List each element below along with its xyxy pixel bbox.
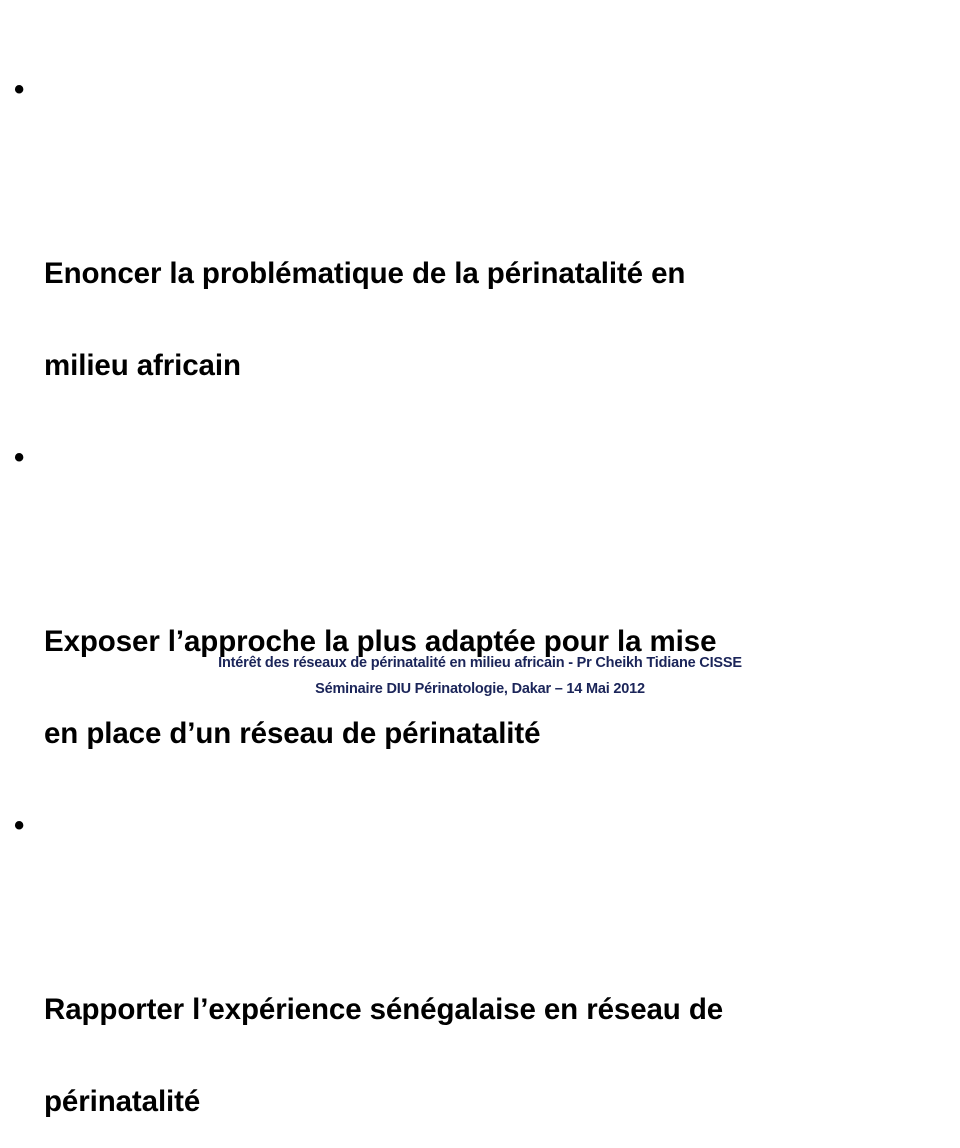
slide-footer: Intérêt des réseaux de périnatalité en m… bbox=[0, 650, 960, 702]
bullet-point-icon: • bbox=[14, 44, 30, 136]
footer-title-line: Intérêt des réseaux de périnatalité en m… bbox=[0, 650, 960, 676]
bullet-item-2: • Exposer l’approche la plus adaptée pou… bbox=[0, 412, 940, 780]
footer-event-line: Séminaire DIU Périnatologie, Dakar – 14 … bbox=[0, 676, 960, 702]
bullet-point-icon: • bbox=[14, 780, 30, 872]
bullet-item-1: • Enoncer la problématique de la périnat… bbox=[0, 44, 940, 412]
bullet-point-icon: • bbox=[14, 412, 30, 504]
objectives-bullet-list: • Enoncer la problématique de la périnat… bbox=[0, 44, 940, 1148]
bullet-item-3: • Rapporter l’expérience sénégalaise en … bbox=[0, 780, 940, 1148]
presentation-slide: • Enoncer la problématique de la périnat… bbox=[0, 0, 960, 720]
bullet-item-3-text: Rapporter l’expérience sénégalaise en ré… bbox=[44, 993, 723, 1118]
bullet-item-1-text: Enoncer la problématique de la périnatal… bbox=[44, 257, 685, 382]
